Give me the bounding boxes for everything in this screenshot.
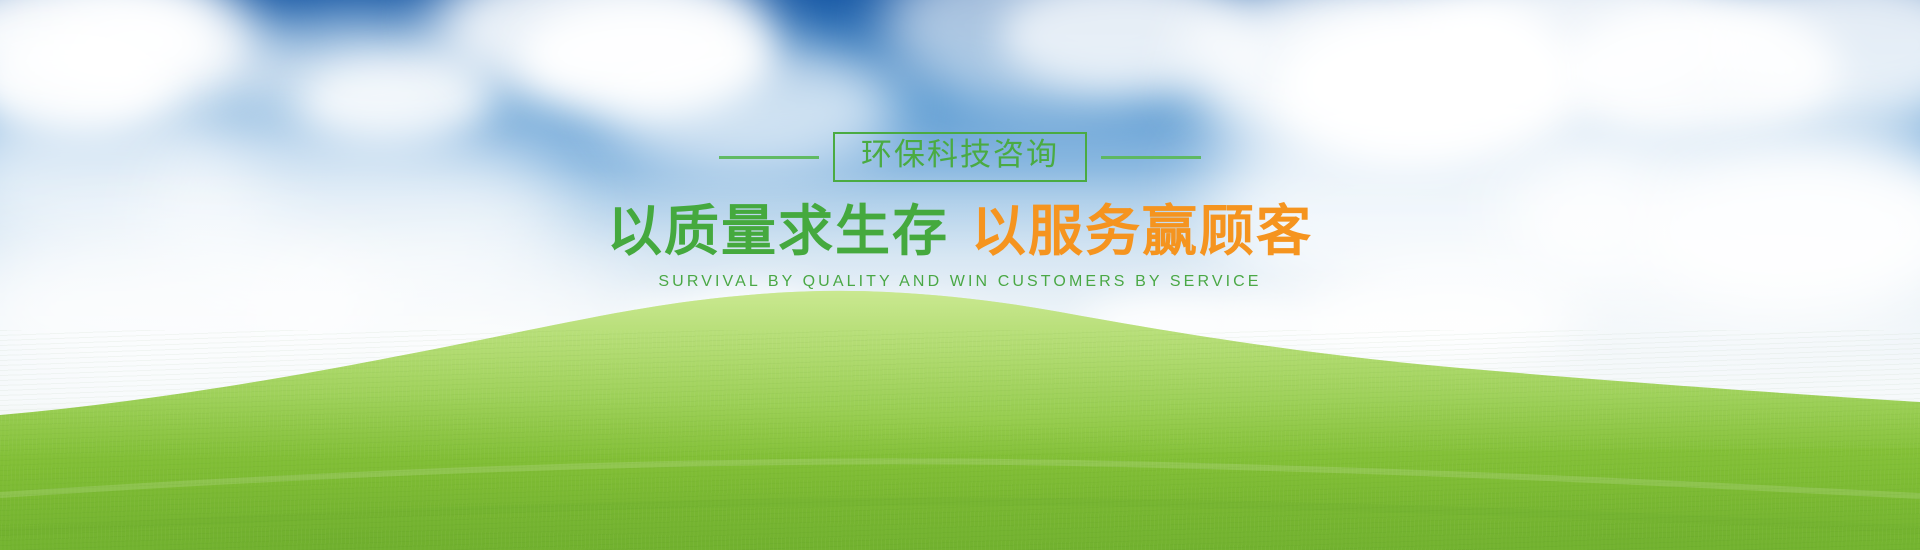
grass-hill bbox=[0, 250, 1920, 550]
eyebrow-label: 环保科技咨询 bbox=[861, 137, 1059, 173]
subheadline: SURVIVAL BY QUALITY AND WIN CUSTOMERS BY… bbox=[0, 273, 1920, 291]
eyebrow-box: 环保科技咨询 bbox=[833, 132, 1087, 182]
decorative-rule-right-icon bbox=[1101, 156, 1201, 159]
headline-green-part: 以质量求生存 bbox=[607, 199, 949, 263]
headline: 以质量求生存以服务赢顾客 bbox=[0, 202, 1920, 260]
eyebrow-row: 环保科技咨询 bbox=[0, 128, 1920, 186]
hero-banner: 环保科技咨询 以质量求生存以服务赢顾客 SURVIVAL BY QUALITY … bbox=[0, 0, 1920, 550]
decorative-rule-left-icon bbox=[719, 156, 819, 159]
banner-copy: 环保科技咨询 以质量求生存以服务赢顾客 SURVIVAL BY QUALITY … bbox=[0, 128, 1920, 291]
headline-orange-part: 以服务赢顾客 bbox=[971, 199, 1313, 263]
